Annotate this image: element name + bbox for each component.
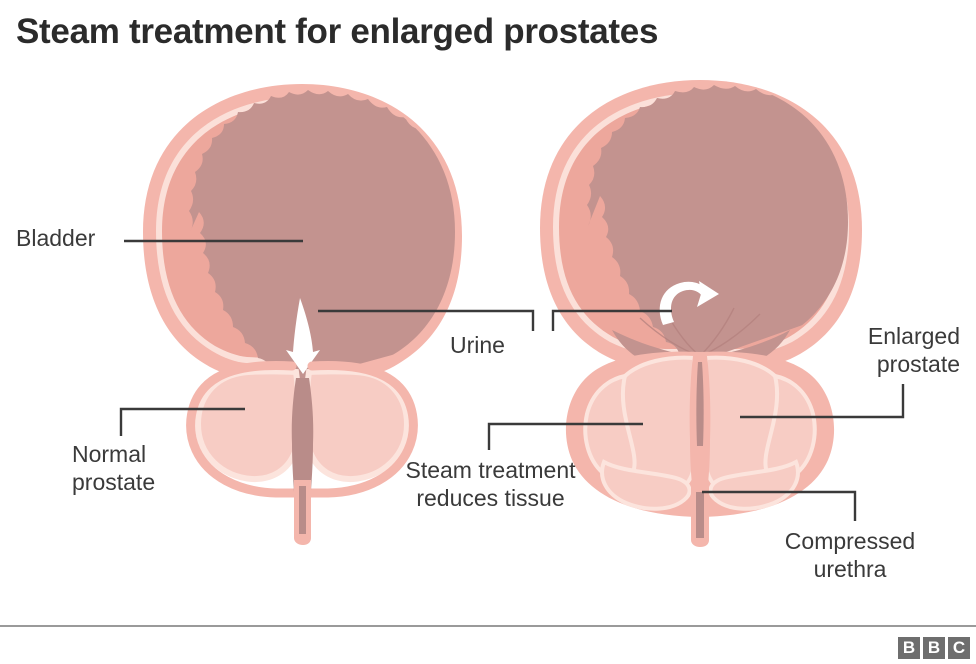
label-compressed-line1: Compressed bbox=[740, 527, 960, 555]
label-steam-line2: reduces tissue bbox=[388, 484, 593, 512]
label-steam-treatment: Steam treatment reduces tissue bbox=[388, 456, 593, 512]
urethra-tube-lumen-right bbox=[696, 492, 704, 538]
bbc-logo-letter-2: B bbox=[923, 637, 945, 659]
bbc-logo: B B C bbox=[898, 637, 970, 659]
label-normal-prostate-line2: prostate bbox=[72, 468, 252, 496]
label-steam-line1: Steam treatment bbox=[388, 456, 593, 484]
label-compressed-urethra: Compressed urethra bbox=[740, 527, 960, 583]
infographic-canvas: Steam treatment for enlarged prostates bbox=[0, 0, 976, 664]
footer-divider bbox=[0, 625, 976, 627]
bbc-logo-letter-3: C bbox=[948, 637, 970, 659]
label-enlarged-line2: prostate bbox=[760, 350, 960, 378]
label-bladder: Bladder bbox=[16, 224, 95, 252]
label-compressed-line2: urethra bbox=[740, 555, 960, 583]
label-normal-prostate-line1: Normal bbox=[72, 440, 252, 468]
bbc-logo-letter-1: B bbox=[898, 637, 920, 659]
urethra-tube-lumen-left bbox=[299, 486, 306, 534]
label-enlarged-prostate: Enlarged prostate bbox=[760, 322, 960, 378]
compressed-urethra-lumen-right bbox=[696, 362, 703, 446]
label-enlarged-line1: Enlarged bbox=[760, 322, 960, 350]
label-normal-prostate: Normal prostate bbox=[72, 440, 252, 496]
label-urine: Urine bbox=[450, 331, 505, 359]
